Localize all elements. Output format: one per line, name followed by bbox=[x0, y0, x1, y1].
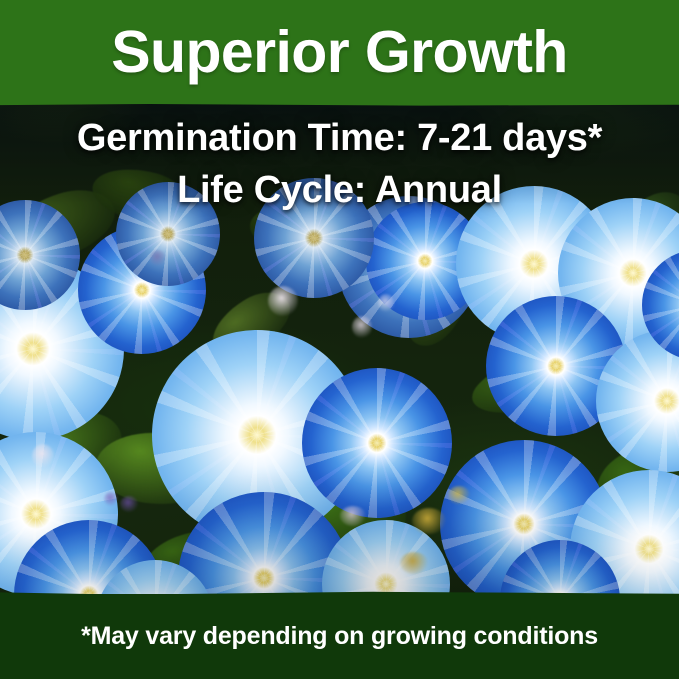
photo-accent bbox=[268, 286, 298, 316]
spec-line-germination: Germination Time: 7-21 days* bbox=[0, 112, 679, 164]
photo-accent bbox=[32, 444, 54, 468]
footnote-text: *May vary depending on growing condition… bbox=[0, 594, 679, 679]
seed-packet-infographic: Superior Growth Germination Time: 7-21 d… bbox=[0, 0, 679, 679]
spec-line-life-cycle: Life Cycle: Annual bbox=[0, 164, 679, 216]
spec-overlay: Germination Time: 7-21 days* Life Cycle:… bbox=[0, 112, 679, 216]
photo-accent bbox=[378, 294, 394, 312]
photo-accent bbox=[412, 508, 446, 534]
photo-accent bbox=[448, 486, 470, 504]
photo-accent bbox=[150, 250, 166, 266]
page-title: Superior Growth bbox=[0, 0, 679, 104]
photo-accent bbox=[120, 496, 138, 512]
photo-accent bbox=[340, 506, 366, 526]
photo-accent bbox=[352, 316, 372, 338]
photo-accent bbox=[400, 552, 428, 574]
photo-accent bbox=[104, 492, 118, 506]
